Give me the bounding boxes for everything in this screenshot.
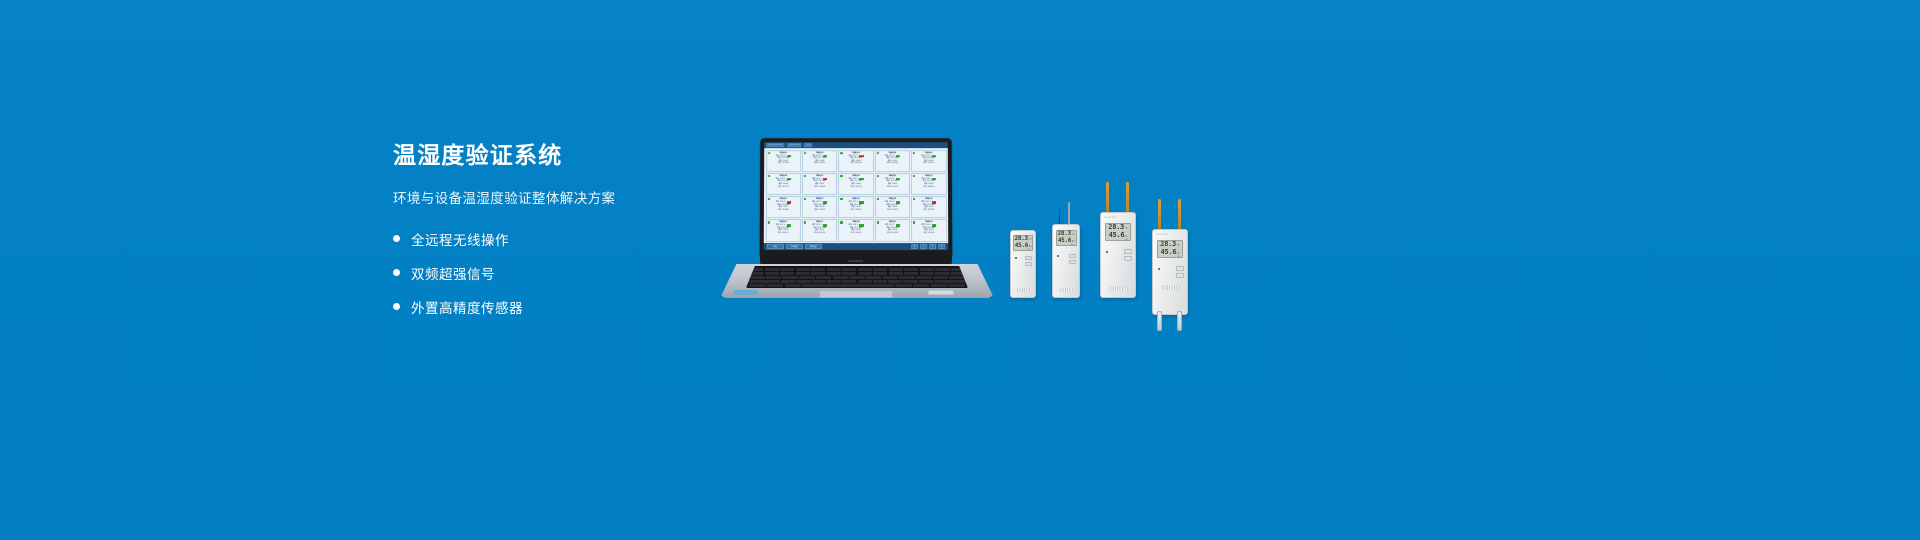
lcd-temp-unit: ℃ bbox=[1072, 233, 1075, 236]
device-button-up[interactable] bbox=[1176, 266, 1184, 271]
menu-item-report[interactable]: 报表 查询·曲线 bbox=[787, 143, 802, 147]
lcd-hum-unit: % bbox=[1029, 245, 1031, 248]
card-field-row: 时间10:24:18 bbox=[804, 186, 835, 189]
keyboard-key[interactable] bbox=[919, 280, 933, 283]
lcd-hum-value: 45.6 bbox=[1161, 248, 1177, 256]
lcd-hum-line: 45.6 % bbox=[1108, 231, 1128, 239]
card-status-led-icon bbox=[840, 221, 842, 223]
keyboard-key[interactable] bbox=[827, 268, 841, 271]
keyboard-key[interactable] bbox=[916, 276, 932, 279]
monitor-card[interactable]: 监测点04温度23.2 ℃正常湿度53.9 %RH通道CH-04时间10:24:… bbox=[875, 150, 910, 172]
keyboard-key[interactable] bbox=[858, 268, 872, 271]
settings-button[interactable]: 系统设置 bbox=[805, 244, 822, 249]
card-field-value: 10:24:19 bbox=[891, 186, 898, 189]
keyboard-key[interactable] bbox=[899, 276, 915, 279]
menu-item-help[interactable]: 帮助 bbox=[805, 143, 812, 147]
monitor-card[interactable]: 监测点09温度23.3 ℃正常湿度55.4 %RH通道CH-09时间10:24:… bbox=[875, 173, 910, 195]
card-field-value: 10:24:16 bbox=[855, 162, 862, 165]
antenna-right-icon bbox=[1126, 182, 1129, 214]
laptop-brand-label: HUAWEI bbox=[848, 259, 864, 263]
card-field-value: 10:24:18 bbox=[855, 186, 862, 189]
laptop-screen: 设备管理·数据·监控 报表 查询·曲线 帮助 监测点01温度23.4 ℃正常湿度… bbox=[764, 142, 949, 250]
card-field-row: 时间10:24:21 bbox=[840, 209, 871, 212]
monitor-card[interactable]: 监测点20温度23.3 ℃正常湿度54.8 %RH通道CH-20时间10:24:… bbox=[911, 219, 947, 241]
keyboard-key[interactable] bbox=[765, 268, 779, 271]
status-led-icon bbox=[1015, 257, 1017, 259]
lcd-foot-label: RH bbox=[1016, 249, 1030, 252]
card-field-value: 10:24:23 bbox=[855, 232, 862, 235]
lcd-temp-value: 28.3 bbox=[1058, 230, 1071, 237]
laptop-trackpad[interactable] bbox=[819, 290, 893, 298]
keyboard-key[interactable] bbox=[920, 268, 934, 271]
lcd-temp-line: 28.3 ℃ bbox=[1016, 235, 1030, 242]
lcd-temp-line: 28.3 ℃ bbox=[1160, 240, 1180, 248]
bullet-dot-icon bbox=[393, 269, 400, 276]
card-field-row: 时间10:24:18 bbox=[840, 186, 871, 189]
card-field-row: 时间10:24:23 bbox=[840, 232, 871, 235]
status-led-icon bbox=[1106, 251, 1108, 253]
pagination-group: 首 上 下 末 bbox=[911, 244, 945, 249]
card-field-value: 10:24:24 bbox=[928, 232, 935, 235]
device-button-down[interactable] bbox=[1176, 273, 1184, 278]
lcd-hum-value: 45.6 bbox=[1058, 237, 1071, 244]
card-field-row: 时间10:24:15 bbox=[804, 162, 835, 165]
card-field-row: 时间10:24:22 bbox=[767, 232, 798, 235]
lcd-foot-label: RH bbox=[1059, 244, 1074, 247]
keyboard-key[interactable] bbox=[802, 284, 893, 287]
lcd-foot-label: RH bbox=[1160, 256, 1180, 259]
keyboard-row bbox=[749, 268, 965, 271]
page-next-button[interactable]: 下 bbox=[929, 244, 936, 249]
antenna-left-icon bbox=[1158, 199, 1161, 231]
keyboard-key[interactable] bbox=[785, 284, 802, 287]
keyboard-key[interactable] bbox=[858, 272, 872, 275]
list-item: 双频超强信号 bbox=[393, 263, 723, 283]
keyboard-key[interactable] bbox=[931, 284, 948, 287]
keyboard-key[interactable] bbox=[935, 272, 949, 275]
card-field-value: 10:24:23 bbox=[818, 232, 825, 235]
keyboard-key[interactable] bbox=[780, 268, 794, 271]
keyboard-key[interactable] bbox=[883, 276, 899, 279]
card-field-key: 时间 bbox=[923, 209, 926, 212]
card-field-key: 时间 bbox=[887, 162, 890, 165]
card-field-key: 时间 bbox=[887, 186, 890, 189]
monitor-card-grid: 监测点01温度23.4 ℃正常湿度55.2 %RH通道CH-01时间10:24:… bbox=[765, 150, 946, 242]
laptop-sticker-right bbox=[928, 290, 954, 295]
keyboard-key[interactable] bbox=[904, 268, 918, 271]
laptop-lid: 设备管理·数据·监控 报表 查询·曲线 帮助 监测点01温度23.4 ℃正常湿度… bbox=[760, 138, 953, 256]
card-field-key: 时间 bbox=[778, 186, 781, 189]
monitor-card[interactable]: 监测点03温度24.1 ℃超限湿度56.0 %RH通道CH-03时间10:24:… bbox=[838, 150, 873, 172]
card-field-key: 时间 bbox=[814, 162, 817, 165]
keyboard-key[interactable] bbox=[842, 268, 856, 271]
keyboard-key[interactable] bbox=[782, 276, 798, 279]
list-item: 全远程无线操作 bbox=[393, 229, 723, 249]
export-button[interactable]: 导出数据 bbox=[786, 244, 803, 249]
monitor-card[interactable]: 监测点07温度24.5 ℃超限湿度57.3 %RH通道CH-07时间10:24:… bbox=[802, 173, 837, 195]
bullet-dot-icon bbox=[393, 235, 400, 242]
keyboard-key[interactable] bbox=[749, 280, 780, 283]
keyboard-key[interactable] bbox=[949, 276, 965, 279]
card-field-key: 时间 bbox=[850, 232, 853, 235]
card-field-row: 时间10:24:23 bbox=[804, 232, 835, 235]
device-button-down[interactable] bbox=[1124, 256, 1132, 261]
card-field-row: 时间10:24:16 bbox=[877, 162, 908, 165]
monitor-card[interactable]: 监测点02温度23.8 ℃正常湿度54.7 %RH通道CH-02时间10:24:… bbox=[802, 150, 837, 172]
bullet-dot-icon bbox=[393, 303, 400, 310]
device-button-up[interactable] bbox=[1069, 254, 1076, 258]
page-title: 温湿度验证系统 bbox=[393, 142, 723, 170]
keyboard-key[interactable] bbox=[765, 272, 779, 275]
keyboard-key[interactable] bbox=[796, 272, 810, 275]
external-probe-right-icon bbox=[1177, 311, 1182, 331]
app-toolbar: 刷新 导出数据 系统设置 首 上 下 末 bbox=[764, 243, 949, 250]
keyboard-key[interactable] bbox=[766, 276, 782, 279]
lcd-temp-value: 28.3 bbox=[1015, 235, 1028, 242]
keyboard-key[interactable] bbox=[849, 276, 865, 279]
card-status-led-icon bbox=[804, 152, 806, 154]
card-field-key: 时间 bbox=[814, 209, 817, 212]
card-field-key: 时间 bbox=[887, 209, 890, 212]
card-field-key: 时间 bbox=[851, 186, 854, 189]
monitor-card[interactable]: 监测点12温度23.0 ℃正常湿度53.2 %RH通道CH-12时间10:24:… bbox=[802, 196, 837, 218]
lcd-hum-unit: % bbox=[1125, 235, 1127, 238]
card-field-row: 时间10:24:24 bbox=[877, 232, 908, 235]
lcd-temp-unit: ℃ bbox=[1029, 238, 1032, 241]
card-field-key: 时间 bbox=[814, 186, 817, 189]
device-button-down[interactable] bbox=[1025, 262, 1032, 266]
laptop-device: 设备管理·数据·监控 报表 查询·曲线 帮助 监测点01温度23.4 ℃正常湿度… bbox=[716, 138, 998, 303]
keyboard-key[interactable] bbox=[780, 272, 794, 275]
device-logger-probe-left: 28.3 ℃ 45.6 % RH bbox=[1052, 224, 1080, 298]
card-field-value: 10:24:18 bbox=[819, 186, 826, 189]
card-field-key: 时间 bbox=[851, 162, 854, 165]
keyboard-key[interactable] bbox=[816, 276, 832, 279]
keyboard-key[interactable] bbox=[889, 268, 903, 271]
device-vent-icon bbox=[1017, 288, 1031, 292]
status-led-icon bbox=[1158, 268, 1160, 270]
keyboard-key[interactable] bbox=[811, 268, 825, 271]
card-status-led-icon bbox=[768, 175, 770, 177]
card-field-value: 10:24:17 bbox=[928, 162, 935, 165]
device-logger-antenna-right: EN/ON SET 28.3 ℃ 45.6 % RH bbox=[1152, 229, 1188, 315]
monitor-card[interactable]: 监测点05温度22.9 ℃正常湿度55.8 %RH通道CH-05时间10:24:… bbox=[911, 150, 946, 172]
card-field-value: 10:24:16 bbox=[891, 162, 898, 165]
monitor-card[interactable]: 监测点18温度22.8 ℃正常湿度53.5 %RH通道CH-18时间10:24:… bbox=[838, 219, 873, 241]
monitor-card[interactable]: 监测点01温度23.4 ℃正常湿度55.2 %RH通道CH-01时间10:24:… bbox=[766, 150, 801, 172]
laptop-sticker-left bbox=[734, 290, 758, 295]
menu-item-device[interactable]: 设备管理·数据·监控 bbox=[766, 143, 784, 147]
antenna-left-icon bbox=[1106, 182, 1109, 214]
card-field-value: 10:24:20 bbox=[782, 209, 789, 212]
card-field-value: 10:24:17 bbox=[782, 186, 789, 189]
card-field-row: 时间10:24:15 bbox=[768, 162, 799, 165]
keyboard-key[interactable] bbox=[749, 284, 766, 287]
device-logger-antenna-mid: EN/ON SET 28.3 ℃ 45.6 % RH bbox=[1100, 212, 1136, 298]
toolbar-left-group: 刷新 导出数据 系统设置 bbox=[767, 244, 822, 249]
card-field-key: 时间 bbox=[778, 162, 781, 165]
keyboard-key[interactable] bbox=[866, 276, 882, 279]
monitor-card[interactable]: 监测点19温度24.0 ℃正常湿度56.9 %RH通道CH-19时间10:24:… bbox=[875, 219, 911, 241]
lcd-temp-unit: ℃ bbox=[1177, 244, 1180, 247]
keyboard-key[interactable] bbox=[895, 284, 912, 287]
keyboard-key[interactable] bbox=[935, 268, 949, 271]
card-field-key: 时间 bbox=[850, 209, 853, 212]
keyboard-key[interactable] bbox=[842, 272, 856, 275]
lcd-hum-unit: % bbox=[1177, 252, 1179, 255]
card-field-value: 10:24:22 bbox=[782, 232, 789, 235]
monitor-card[interactable]: 监测点17温度23.4 ℃正常湿度55.6 %RH通道CH-17时间10:24:… bbox=[802, 219, 838, 241]
keyboard-key[interactable] bbox=[796, 268, 810, 271]
monitor-card[interactable]: 监测点13温度22.7 ℃正常湿度56.5 %RH通道CH-13时间10:24:… bbox=[838, 196, 873, 218]
keyboard-key[interactable] bbox=[904, 272, 918, 275]
feature-label: 外置高精度传感器 bbox=[411, 297, 523, 317]
card-status-led-icon bbox=[877, 221, 879, 223]
list-item: 外置高精度传感器 bbox=[393, 297, 723, 317]
keyboard-key[interactable] bbox=[749, 276, 765, 279]
keyboard-key[interactable] bbox=[920, 272, 934, 275]
card-status-led-icon bbox=[768, 152, 770, 154]
keyboard-key[interactable] bbox=[889, 272, 903, 275]
monitor-grid-wrap: 监测点01温度23.4 ℃正常湿度55.2 %RH通道CH-01时间10:24:… bbox=[764, 148, 948, 243]
probe-cable bbox=[1059, 204, 1060, 226]
keyboard-key[interactable] bbox=[812, 280, 826, 283]
keyboard-key[interactable] bbox=[833, 276, 849, 279]
keyboard-key[interactable] bbox=[767, 284, 784, 287]
monitor-card[interactable]: 监测点14温度23.5 ℃正常湿度55.0 %RH通道CH-14时间10:24:… bbox=[875, 196, 910, 218]
monitor-card[interactable]: 监测点06温度23.6 ℃正常湿度54.1 %RH通道CH-06时间10:24:… bbox=[766, 173, 801, 195]
card-field-row: 时间10:24:22 bbox=[913, 209, 944, 212]
lcd-temp-value: 28.3 bbox=[1160, 240, 1176, 248]
lcd-hum-value: 45.6 bbox=[1109, 231, 1125, 239]
card-field-value: 10:24:24 bbox=[891, 232, 898, 235]
laptop-keyboard[interactable] bbox=[746, 266, 968, 288]
device-button-up[interactable] bbox=[1124, 249, 1132, 254]
page-last-button[interactable]: 末 bbox=[938, 244, 945, 249]
page-subtitle: 环境与设备温湿度验证整体解决方案 bbox=[393, 187, 723, 207]
feature-label: 全远程无线操作 bbox=[411, 229, 509, 249]
keyboard-key[interactable] bbox=[842, 280, 856, 283]
keyboard-key[interactable] bbox=[873, 280, 887, 283]
card-field-row: 时间10:24:19 bbox=[877, 186, 908, 189]
lcd-hum-line: 45.6 % bbox=[1160, 248, 1180, 256]
keyboard-key[interactable] bbox=[873, 272, 887, 275]
monitor-card[interactable]: 监测点10温度23.9 ℃正常湿度54.9 %RH通道CH-10时间10:24:… bbox=[911, 173, 946, 195]
external-probe-left-icon bbox=[1157, 311, 1162, 331]
keyboard-row bbox=[749, 276, 965, 279]
page-prev-button[interactable]: 上 bbox=[920, 244, 927, 249]
refresh-button[interactable]: 刷新 bbox=[767, 244, 784, 249]
card-field-key: 时间 bbox=[887, 232, 890, 235]
card-field-value: 10:24:22 bbox=[928, 209, 935, 212]
card-field-row: 时间10:24:19 bbox=[913, 186, 944, 189]
keyboard-key[interactable] bbox=[811, 272, 825, 275]
lcd-temp-line: 28.3 ℃ bbox=[1108, 223, 1128, 231]
keyboard-key[interactable] bbox=[827, 272, 841, 275]
device-vent-icon bbox=[1060, 288, 1075, 292]
keyboard-key[interactable] bbox=[781, 280, 795, 283]
card-field-value: 10:24:15 bbox=[782, 162, 789, 165]
keyboard-key[interactable] bbox=[933, 276, 949, 279]
lcd-hum-line: 45.6 % bbox=[1059, 237, 1074, 244]
card-field-key: 时间 bbox=[814, 232, 817, 235]
monitor-card[interactable]: 监测点08温度23.1 ℃正常湿度52.6 %RH通道CH-08时间10:24:… bbox=[838, 173, 873, 195]
keyboard-row bbox=[749, 280, 965, 283]
card-field-key: 时间 bbox=[923, 186, 926, 189]
keyboard-row bbox=[749, 284, 965, 287]
card-field-row: 时间10:24:21 bbox=[877, 209, 908, 212]
card-field-key: 时间 bbox=[778, 232, 781, 235]
probe-rod-icon bbox=[1068, 202, 1070, 226]
card-field-value: 10:24:21 bbox=[855, 209, 862, 212]
card-status-led-icon bbox=[840, 152, 842, 154]
keyboard-key[interactable] bbox=[948, 284, 965, 287]
lcd-foot-label: RH bbox=[1108, 239, 1128, 242]
device-button-up[interactable] bbox=[1025, 256, 1032, 260]
lcd-temp-value: 28.3 bbox=[1108, 223, 1124, 231]
card-status-led-icon bbox=[877, 152, 879, 154]
card-status-led-icon bbox=[767, 221, 769, 223]
lcd-hum-value: 45.6 bbox=[1015, 242, 1028, 249]
keyboard-key[interactable] bbox=[913, 284, 930, 287]
card-field-row: 时间10:24:17 bbox=[913, 162, 944, 165]
monitor-card[interactable]: 监测点11温度24.8 ℃超限湿度58.1 %RH通道CH-11时间10:24:… bbox=[765, 196, 801, 218]
card-status-led-icon bbox=[804, 221, 806, 223]
card-status-led-icon bbox=[877, 175, 879, 177]
keyboard-key[interactable] bbox=[799, 276, 815, 279]
keyboard-key[interactable] bbox=[903, 280, 917, 283]
card-status-led-icon bbox=[840, 175, 842, 177]
card-field-key: 时间 bbox=[923, 232, 926, 235]
card-field-value: 10:24:21 bbox=[891, 209, 898, 212]
card-field-row: 时间10:24:16 bbox=[840, 162, 871, 165]
monitor-card[interactable]: 监测点16温度23.7 ℃正常湿度54.4 %RH通道CH-16时间10:24:… bbox=[765, 219, 801, 241]
card-status-led-icon bbox=[804, 175, 806, 177]
lcd-temp-line: 28.3 ℃ bbox=[1059, 230, 1074, 237]
lcd-hum-line: 45.6 % bbox=[1016, 242, 1030, 249]
promo-banner: 温湿度验证系统 环境与设备温湿度验证整体解决方案 全远程无线操作 双频超强信号 … bbox=[0, 0, 1920, 540]
monitor-card[interactable]: 监测点15温度24.2 ℃超限湿度57.8 %RH通道CH-15时间10:24:… bbox=[911, 196, 947, 218]
device-vent-icon bbox=[1110, 286, 1128, 291]
device-button-down[interactable] bbox=[1069, 260, 1076, 264]
card-field-key: 时间 bbox=[923, 162, 926, 165]
keyboard-key[interactable] bbox=[934, 280, 965, 283]
page-first-button[interactable]: 首 bbox=[911, 244, 918, 249]
lcd-hum-unit: % bbox=[1072, 240, 1074, 243]
laptop-hinge: HUAWEI bbox=[760, 256, 952, 265]
device-vent-icon bbox=[1162, 285, 1180, 290]
copy-block: 温湿度验证系统 环境与设备温湿度验证整体解决方案 全远程无线操作 双频超强信号 … bbox=[393, 142, 723, 331]
card-field-value: 10:24:15 bbox=[819, 162, 826, 165]
card-field-row: 时间10:24:24 bbox=[913, 232, 944, 235]
device-logger-compact: 28.3 ℃ 45.6 % RH bbox=[1010, 230, 1036, 298]
device-lineup: 28.3 ℃ 45.6 % RH bbox=[1000, 180, 1240, 315]
lcd-temp-unit: ℃ bbox=[1125, 227, 1128, 230]
device-port-label: EN/ON SET bbox=[1104, 217, 1117, 219]
card-field-row: 时间10:24:20 bbox=[767, 209, 798, 212]
card-field-key: 时间 bbox=[778, 209, 781, 212]
device-port-label: EN/ON SET bbox=[1156, 234, 1169, 236]
card-field-row: 时间10:24:20 bbox=[804, 209, 835, 212]
card-field-row: 时间10:24:17 bbox=[768, 186, 799, 189]
status-led-icon bbox=[1057, 255, 1059, 257]
card-field-value: 10:24:19 bbox=[928, 186, 935, 189]
keyboard-key[interactable] bbox=[873, 268, 887, 271]
keyboard-key[interactable] bbox=[888, 280, 902, 283]
feature-label: 双频超强信号 bbox=[411, 263, 495, 283]
card-field-value: 10:24:20 bbox=[818, 209, 825, 212]
keyboard-key[interactable] bbox=[796, 280, 810, 283]
keyboard-key[interactable] bbox=[858, 280, 872, 283]
feature-list: 全远程无线操作 双频超强信号 外置高精度传感器 bbox=[393, 229, 723, 317]
keyboard-key[interactable] bbox=[827, 280, 841, 283]
antenna-right-icon bbox=[1178, 199, 1181, 231]
keyboard-row bbox=[749, 272, 965, 275]
